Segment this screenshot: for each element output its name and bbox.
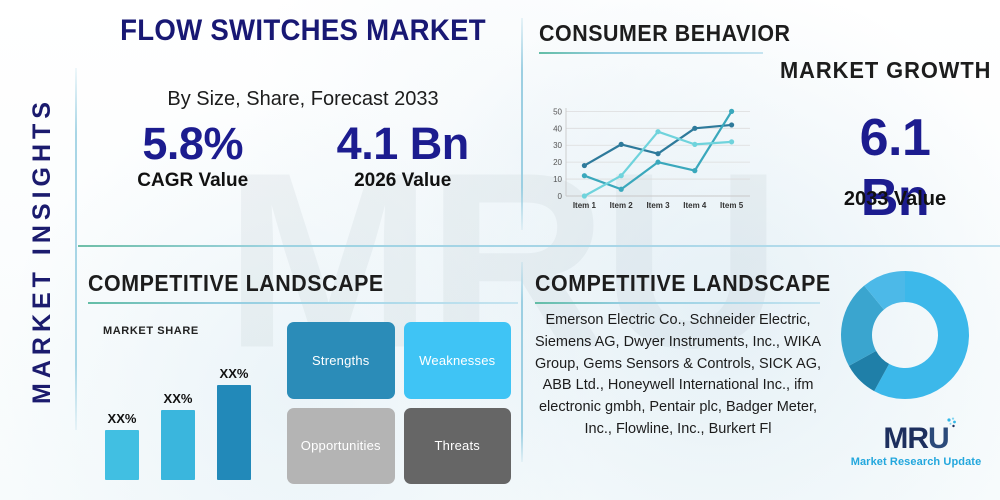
section-heading-competitive-landscape-left: COMPETITIVE LANDSCAPE	[88, 270, 518, 304]
market-share-bar-label: XX%	[220, 366, 249, 381]
section-heading-rule	[539, 52, 763, 54]
mru-logo: MRU Market Research Update	[846, 424, 986, 468]
stat-row: 5.8% CAGR Value 4.1 Bn 2026 Value	[93, 120, 513, 192]
logo-subtitle: Market Research Update	[846, 456, 986, 468]
market-share-bar-rect	[217, 385, 251, 480]
svg-text:Item 4: Item 4	[683, 201, 707, 210]
svg-text:50: 50	[553, 107, 562, 116]
swot-grid: StrengthsWeaknessesOpportunitiesThreats	[287, 322, 511, 484]
logo-droplet-icon	[944, 417, 958, 433]
donut-chart-svg	[838, 268, 972, 402]
market-growth-title: MARKET GROWTH	[780, 57, 991, 84]
logo-mark: MRU	[883, 424, 948, 454]
svg-text:30: 30	[553, 141, 562, 150]
market-share-bar-2: XX%	[161, 391, 195, 480]
market-share-bar-label: XX%	[164, 391, 193, 406]
logo-letter-r: R	[907, 422, 928, 455]
page-subtitle: By Size, Share, Forecast 2033	[103, 88, 503, 111]
market-growth-label: 2033 Value	[820, 188, 970, 211]
swot-cell-label: Opportunities	[301, 438, 381, 453]
swot-cell-label: Threats	[435, 438, 480, 453]
divider-vertical-left	[75, 68, 77, 430]
svg-text:Item 3: Item 3	[646, 201, 670, 210]
svg-text:Item 1: Item 1	[573, 201, 597, 210]
swot-cell-opportunities[interactable]: Opportunities	[287, 408, 395, 485]
divider-vertical-middle-bottom	[521, 262, 523, 462]
stat-2026-label: 2026 Value	[337, 170, 469, 192]
market-share-bar-chart: XX%XX%XX%	[105, 340, 275, 480]
swot-cell-weaknesses[interactable]: Weaknesses	[404, 322, 512, 399]
swot-cell-label: Weaknesses	[419, 353, 495, 368]
section-heading-consumer-behavior: CONSUMER BEHAVIOR	[539, 20, 809, 54]
page-title: FLOW SWITCHES MARKET	[119, 14, 487, 48]
stat-2026-value: 4.1 Bn	[337, 120, 469, 167]
svg-text:Item 5: Item 5	[720, 201, 744, 210]
sidebar-rail: MARKET INSIGHTS	[14, 0, 70, 500]
market-share-bar-1: XX%	[105, 411, 139, 480]
market-share-bar-3: XX%	[217, 366, 251, 480]
company-list: Emerson Electric Co., Schneider Electric…	[528, 310, 828, 441]
section-heading-competitive-landscape-right: COMPETITIVE LANDSCAPE	[535, 270, 853, 304]
svg-text:10: 10	[553, 175, 562, 184]
stat-cagr-value: 5.8%	[137, 120, 248, 167]
section-heading-rule	[88, 302, 518, 304]
divider-vertical-middle-top	[521, 18, 523, 230]
svg-text:Item 2: Item 2	[610, 201, 634, 210]
divider-horizontal	[78, 245, 1000, 247]
stat-cagr: 5.8% CAGR Value	[137, 120, 248, 192]
market-share-title: MARKET SHARE	[103, 325, 199, 337]
svg-text:0: 0	[558, 192, 563, 201]
market-share-bar-rect	[161, 410, 195, 480]
stat-cagr-label: CAGR Value	[137, 170, 248, 192]
svg-text:40: 40	[553, 124, 562, 133]
market-share-bar-rect	[105, 430, 139, 480]
svg-text:20: 20	[553, 158, 562, 167]
line-chart-svg: 01020304050Item 1Item 2Item 3Item 4Item …	[540, 100, 755, 218]
section-heading-competitive-landscape-right-text: COMPETITIVE LANDSCAPE	[535, 270, 831, 297]
market-share-donut-chart	[838, 268, 972, 402]
logo-letter-m: M	[883, 422, 907, 455]
section-heading-rule	[535, 302, 820, 304]
consumer-behavior-line-chart: 01020304050Item 1Item 2Item 3Item 4Item …	[540, 100, 755, 218]
stat-2026: 4.1 Bn 2026 Value	[337, 120, 469, 192]
swot-cell-label: Strengths	[312, 353, 369, 368]
swot-cell-strengths[interactable]: Strengths	[287, 322, 395, 399]
swot-cell-threats[interactable]: Threats	[404, 408, 512, 485]
section-heading-consumer-behavior-text: CONSUMER BEHAVIOR	[539, 20, 791, 47]
sidebar-label: MARKET INSIGHTS	[28, 97, 57, 404]
section-heading-competitive-landscape-left-text: COMPETITIVE LANDSCAPE	[88, 270, 488, 297]
market-share-bar-label: XX%	[108, 411, 137, 426]
